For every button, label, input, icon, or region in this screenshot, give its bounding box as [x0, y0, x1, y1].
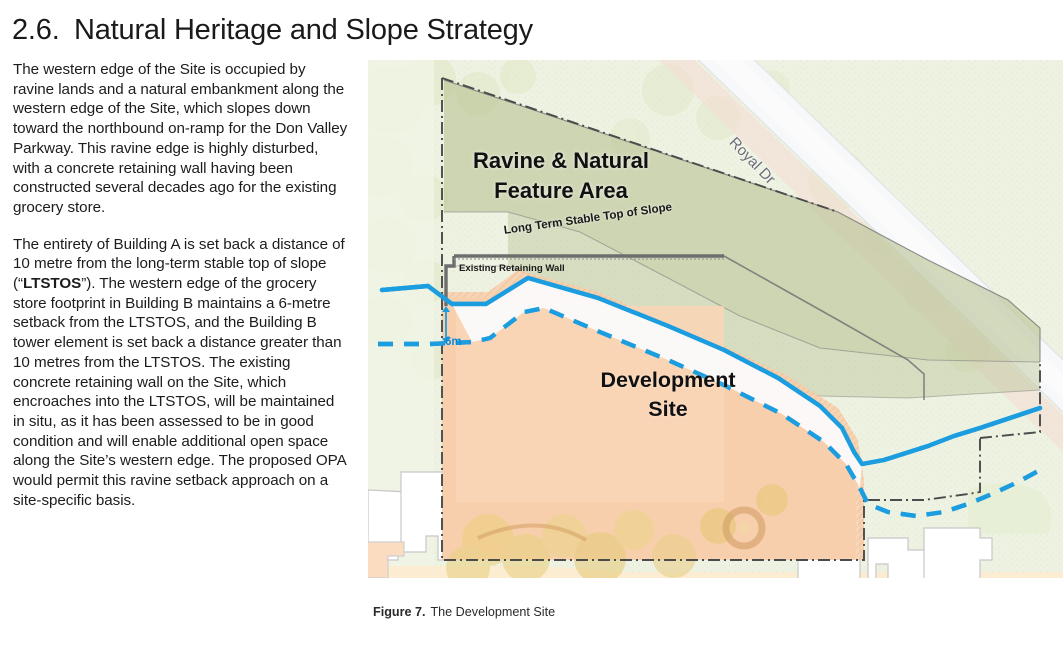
- figure-caption-text: The Development Site: [430, 605, 555, 619]
- map-graphic: [368, 60, 1063, 578]
- ltstos-abbreviation: LTSTOS: [23, 275, 81, 292]
- section-title: Natural Heritage and Slope Strategy: [74, 14, 533, 46]
- paragraph-2-part-2: ”). The western edge of the grocery stor…: [13, 275, 346, 509]
- figure-block: Ravine & Natural Feature Area Developmen…: [368, 60, 1063, 650]
- document-page: 2.6.Natural Heritage and Slope Strategy …: [0, 0, 1063, 650]
- body-text-column: The western edge of the Site is occupied…: [13, 60, 349, 527]
- paragraph-2: The entirety of Building A is set back a…: [13, 235, 349, 511]
- figure-number: Figure 7.: [373, 605, 425, 619]
- site-map[interactable]: Ravine & Natural Feature Area Developmen…: [368, 60, 1063, 578]
- page-title: 2.6.Natural Heritage and Slope Strategy: [12, 14, 712, 47]
- paragraph-1: The western edge of the Site is occupied…: [13, 60, 349, 218]
- figure-caption: Figure 7.The Development Site: [373, 605, 555, 619]
- section-number: 2.6.: [12, 14, 74, 47]
